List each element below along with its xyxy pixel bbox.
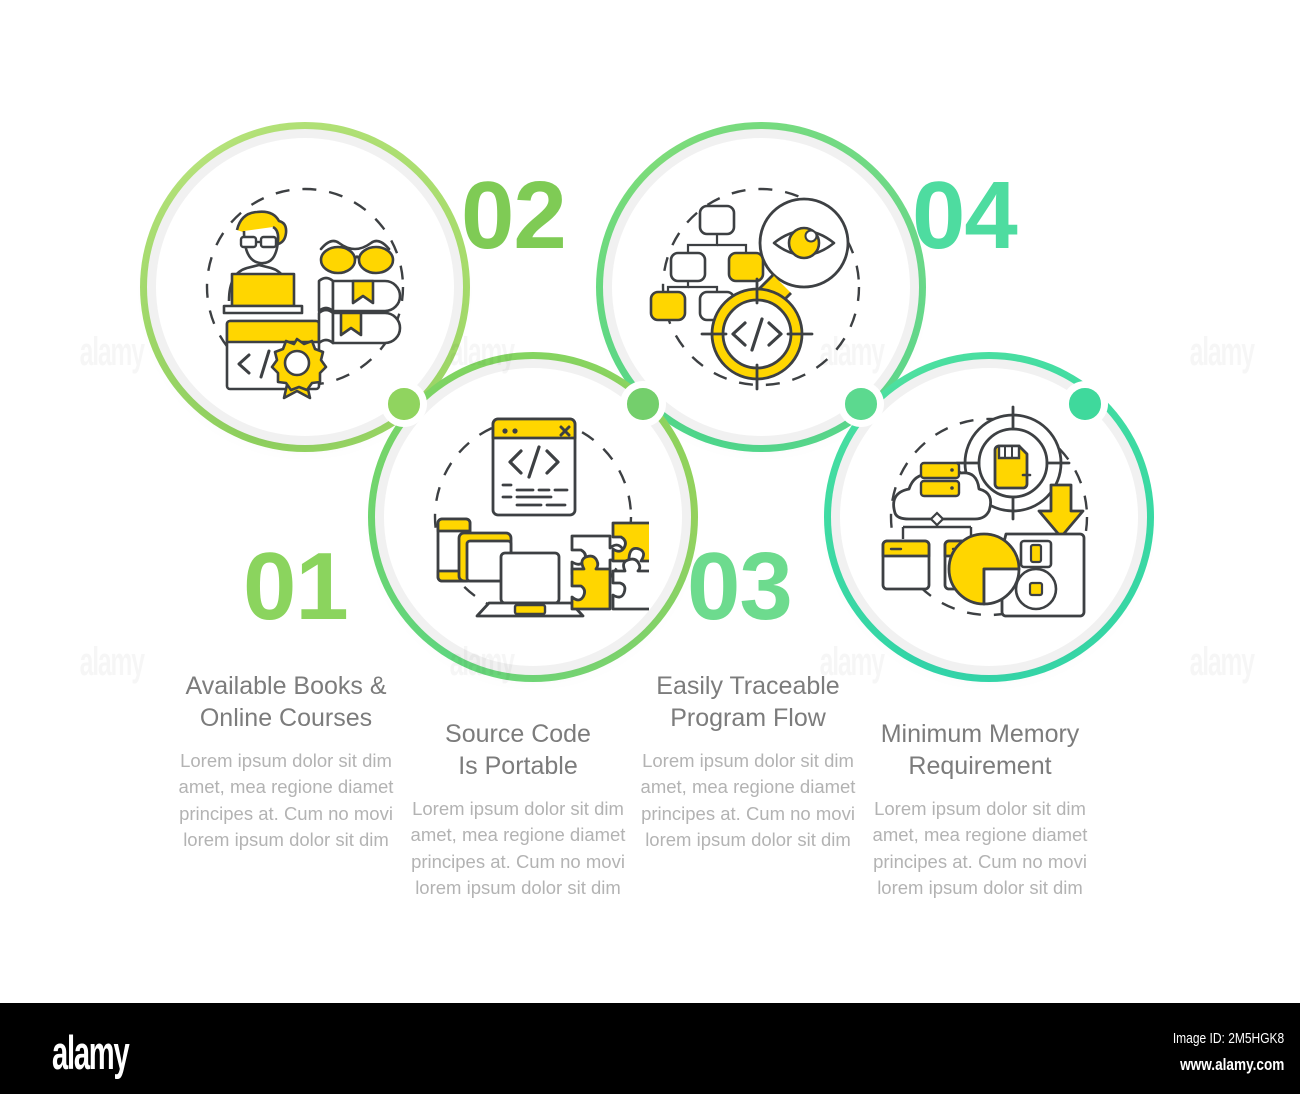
step-text-block-01: Available Books & Online Courses Lorem i… <box>168 670 404 853</box>
step-number-03: 03 <box>687 539 792 635</box>
watermark-tile: alamy <box>80 640 144 685</box>
step-title-03: Easily Traceable Program Flow <box>630 670 866 734</box>
step-body-01: Lorem ipsum dolor sit dim amet, mea regi… <box>168 748 404 853</box>
step-number-01: 01 <box>243 539 348 635</box>
watermark-tile: alamy <box>820 330 884 375</box>
step-body-04: Lorem ipsum dolor sit dim amet, mea regi… <box>852 796 1108 901</box>
watermark-tile: alamy <box>1190 330 1254 375</box>
step-number-04: 04 <box>912 168 1017 264</box>
step-body-02: Lorem ipsum dolor sit dim amet, mea regi… <box>400 796 636 901</box>
infographic-canvas: alamy alamy alamy alamy alamy alamy alam… <box>0 0 1300 1094</box>
step-text-block-02: Source Code Is Portable Lorem ipsum dolo… <box>400 718 636 901</box>
step-title-04: Minimum Memory Requirement <box>852 718 1108 782</box>
step-title-01: Available Books & Online Courses <box>168 670 404 734</box>
stock-footer-bar: alamy Image ID: 2M5HGK8 www.alamy.com <box>0 1003 1300 1094</box>
footer-image-id: Image ID: 2M5HGK8 <box>1173 1030 1284 1047</box>
connector-dot-1-2 <box>381 381 427 427</box>
watermark-tile: alamy <box>450 640 514 685</box>
footer-website: www.alamy.com <box>1180 1055 1284 1075</box>
step-text-block-03: Easily Traceable Program Flow Lorem ipsu… <box>630 670 866 853</box>
step-title-02: Source Code Is Portable <box>400 718 636 782</box>
step-body-03: Lorem ipsum dolor sit dim amet, mea regi… <box>630 748 866 853</box>
connector-dot-3-4 <box>838 381 884 427</box>
step-text-block-04: Minimum Memory Requirement Lorem ipsum d… <box>852 718 1108 901</box>
watermark-tile: alamy <box>1190 640 1254 685</box>
connector-dot-4-end <box>1062 381 1108 427</box>
step-number-02: 02 <box>461 168 566 264</box>
watermark-tile: alamy <box>450 330 514 375</box>
alamy-logo: alamy <box>52 1025 128 1080</box>
watermark-tile: alamy <box>80 330 144 375</box>
connector-dot-2-3 <box>620 381 666 427</box>
